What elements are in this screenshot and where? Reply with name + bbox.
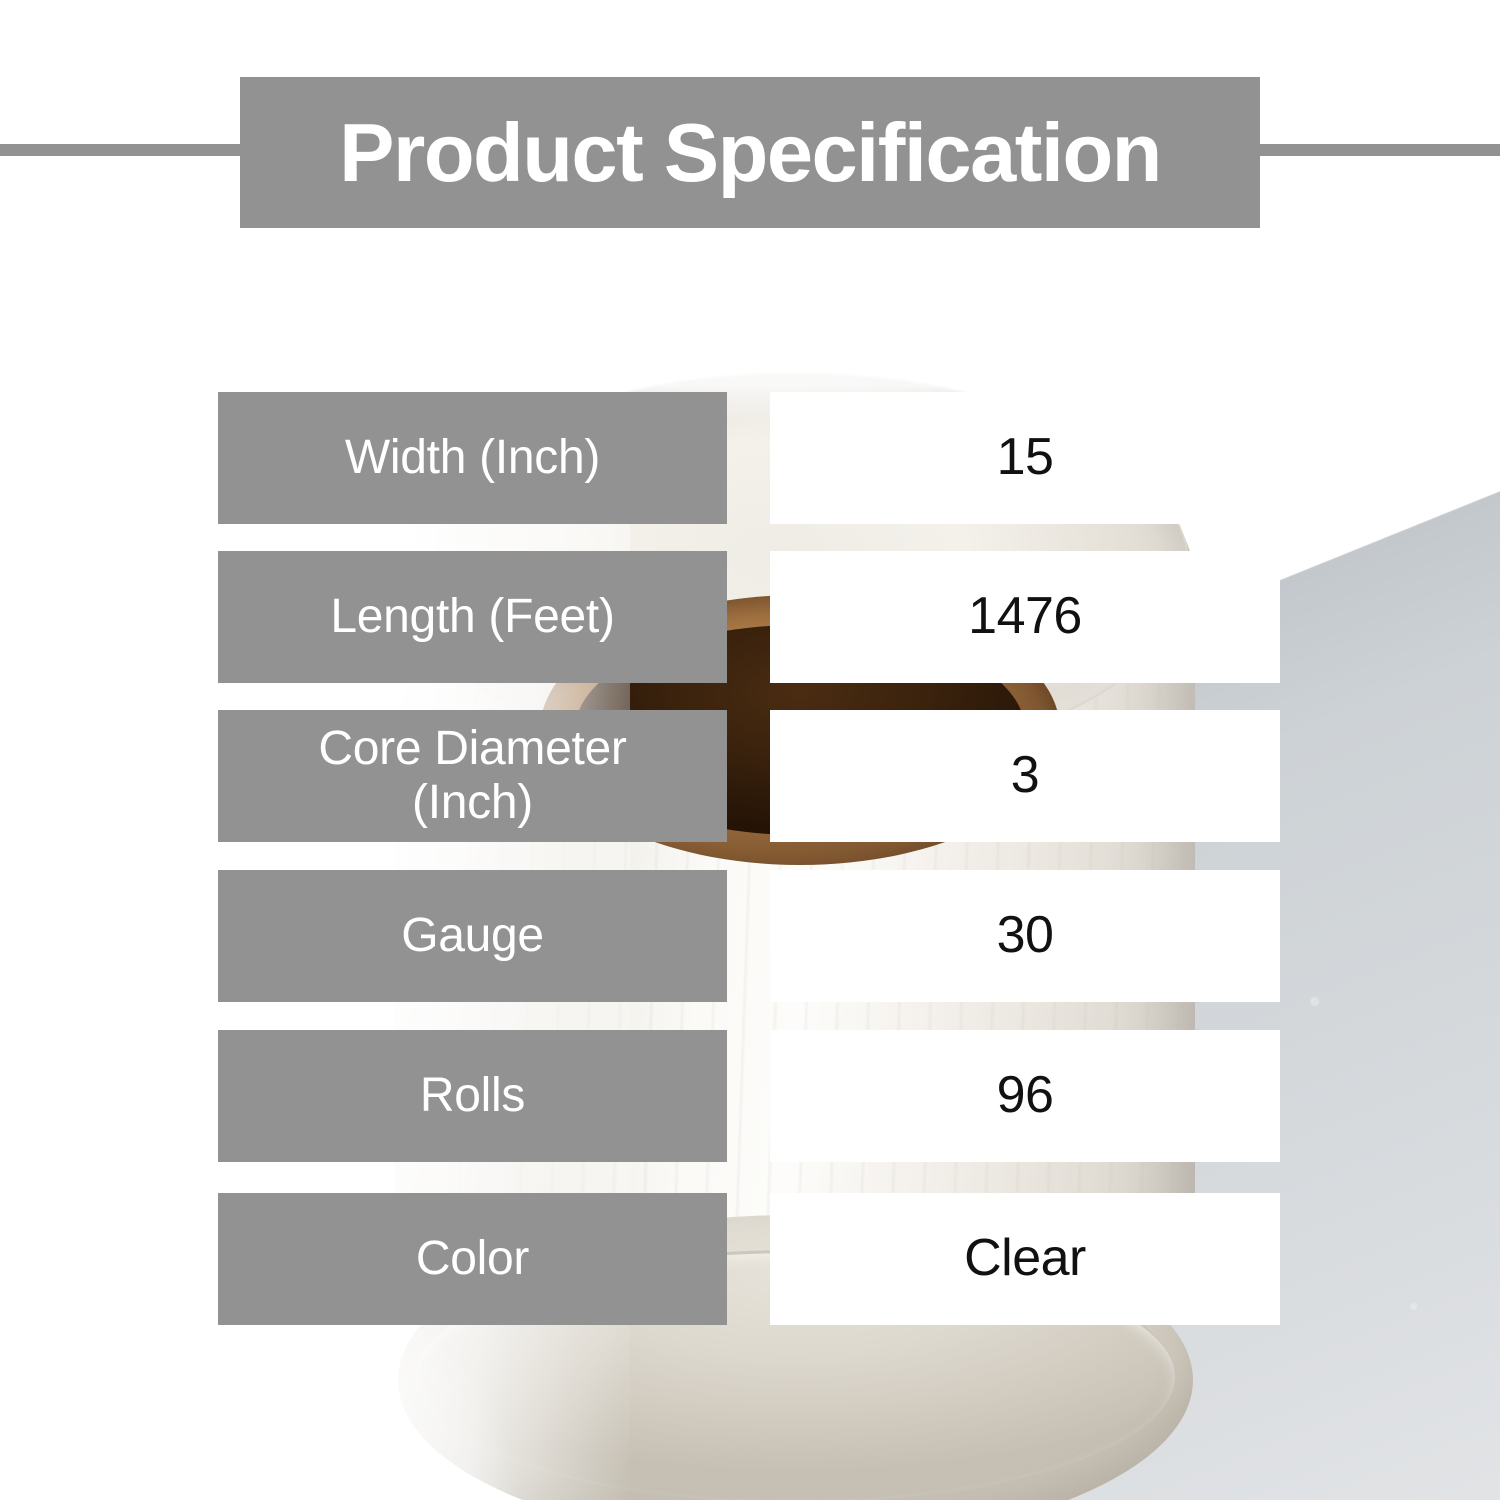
spec-label-text: Length (Feet) (330, 590, 614, 644)
table-row: Color Clear (0, 1193, 1500, 1325)
spec-label-text: Core Diameter (Inch) (318, 722, 626, 830)
spec-label-text: Color (416, 1232, 529, 1286)
spec-value-text: 15 (997, 429, 1054, 486)
table-row: Gauge 30 (0, 870, 1500, 1002)
table-row: Core Diameter (Inch) 3 (0, 710, 1500, 842)
spec-label-text: Width (Inch) (345, 431, 600, 485)
spec-value-text: 3 (1011, 747, 1039, 804)
spec-value-cell: 1476 (770, 551, 1280, 683)
spec-value-text: 96 (997, 1067, 1054, 1124)
spec-label-text: Gauge (401, 909, 544, 963)
spec-value-cell: 96 (770, 1030, 1280, 1162)
spec-label-line-1: Core Diameter (318, 722, 626, 775)
spec-label-cell: Color (218, 1193, 727, 1325)
spec-label-cell: Core Diameter (Inch) (218, 710, 727, 842)
spec-value-text: 1476 (968, 588, 1082, 645)
product-specification-graphic: Product Specification Width (Inch) 15 Le… (0, 0, 1500, 1500)
spec-value-cell: Clear (770, 1193, 1280, 1325)
table-row: Rolls 96 (0, 1030, 1500, 1162)
spec-label-line-2: (Inch) (412, 776, 533, 829)
spec-value-cell: 30 (770, 870, 1280, 1002)
spec-label-cell: Rolls (218, 1030, 727, 1162)
spec-value-text: 30 (997, 907, 1054, 964)
spec-value-text: Clear (964, 1230, 1086, 1287)
spec-label-text: Rolls (420, 1069, 525, 1123)
spec-value-cell: 3 (770, 710, 1280, 842)
table-row: Width (Inch) 15 (0, 392, 1500, 524)
table-row: Length (Feet) 1476 (0, 551, 1500, 683)
spec-label-cell: Length (Feet) (218, 551, 727, 683)
spec-value-cell: 15 (770, 392, 1280, 524)
spec-label-cell: Width (Inch) (218, 392, 727, 524)
specification-table: Width (Inch) 15 Length (Feet) 1476 Core … (0, 0, 1500, 1500)
spec-label-cell: Gauge (218, 870, 727, 1002)
